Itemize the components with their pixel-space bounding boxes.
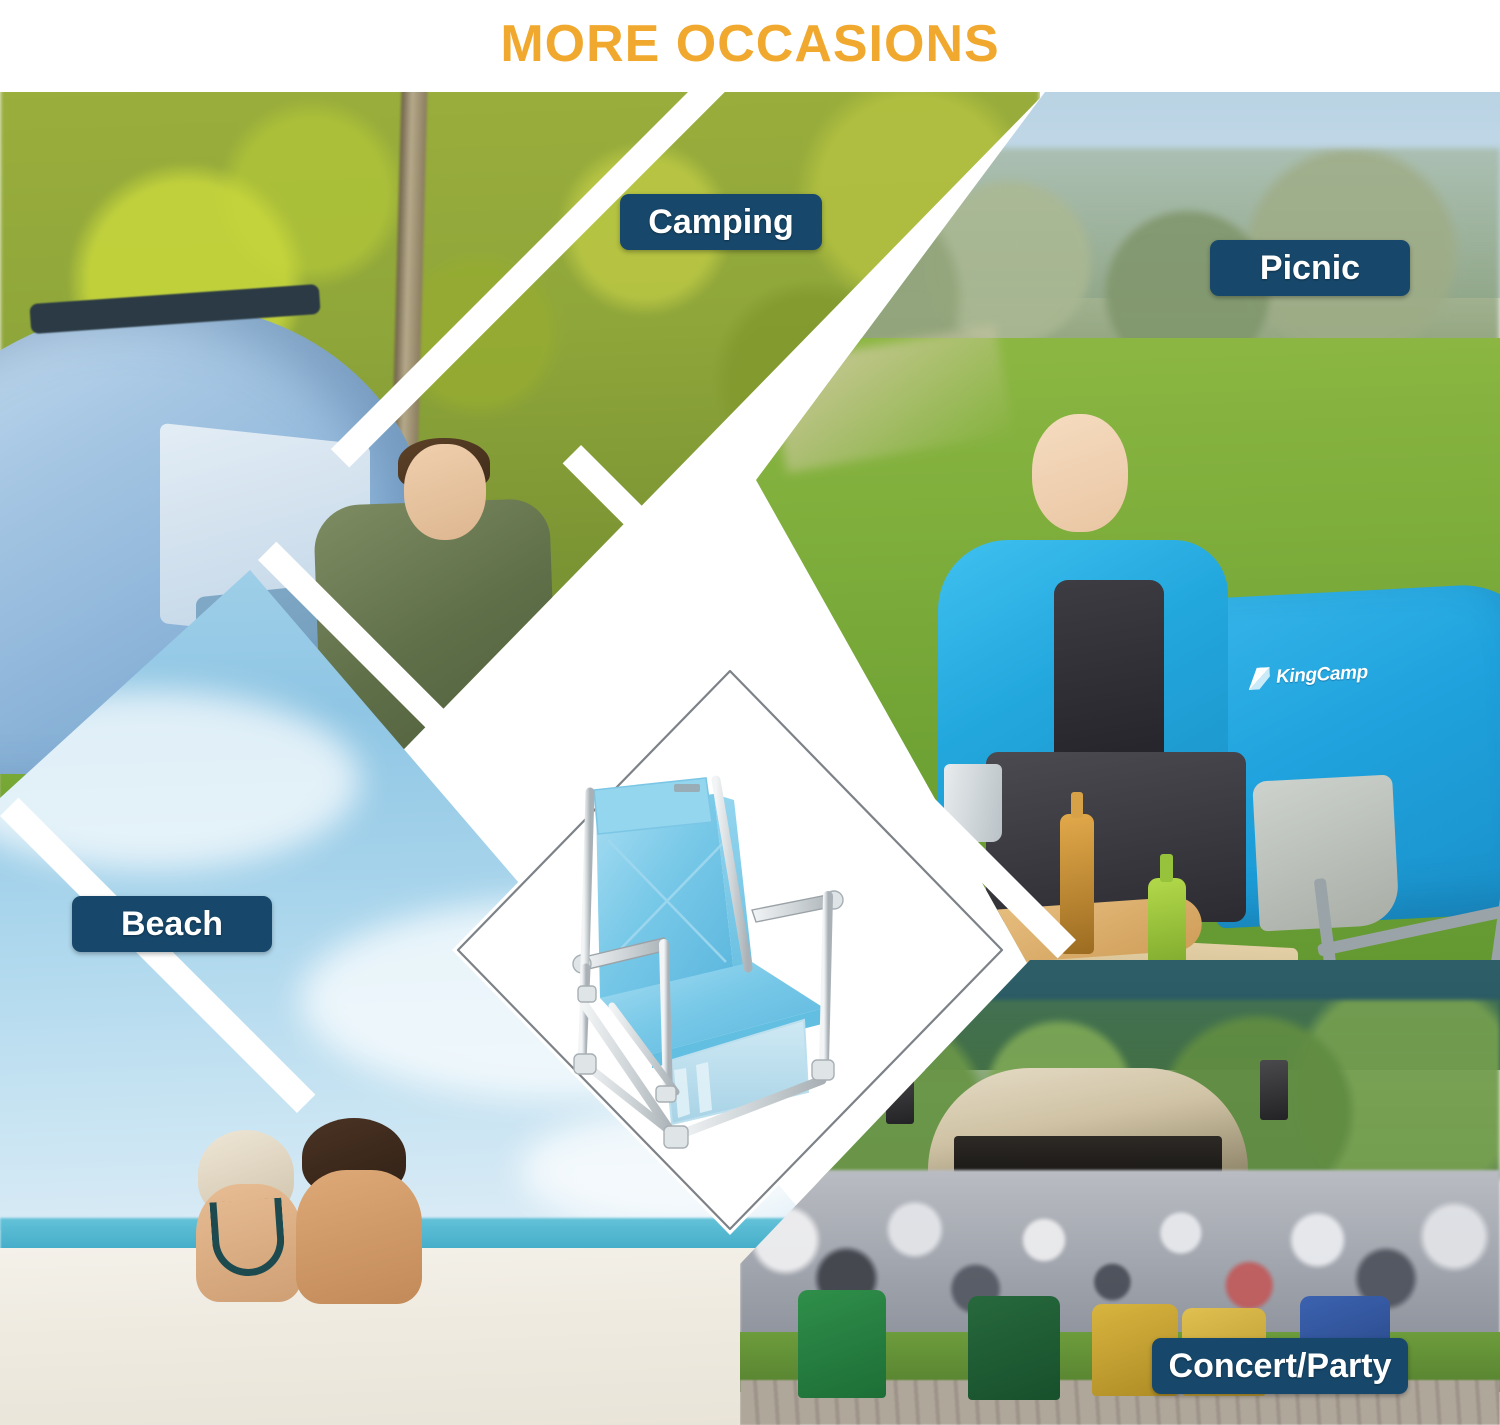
camper-man-head	[404, 444, 486, 540]
page-title-bar: MORE OCCASIONS	[0, 0, 1500, 88]
page-title: MORE OCCASIONS	[500, 14, 999, 74]
stage-backdrop	[954, 1136, 1222, 1174]
audience-chair-green	[968, 1296, 1060, 1400]
picnic-woman-shirt	[1054, 580, 1164, 770]
badge-concert[interactable]: Concert/Party	[1152, 1338, 1408, 1394]
picnic-woman-head	[1032, 414, 1128, 532]
beach-person-2-body	[296, 1170, 422, 1304]
badge-beach[interactable]: Beach	[72, 896, 272, 952]
kingcamp-logo-text: KingCamp	[1275, 662, 1368, 689]
stage-speaker-right	[1260, 1060, 1288, 1120]
occasions-collage: KingCamp	[0, 0, 1500, 1425]
kingcamp-logo-icon	[1248, 667, 1271, 690]
product-folding-chair	[556, 762, 906, 1152]
badge-picnic[interactable]: Picnic	[1210, 240, 1410, 296]
top-white-band	[0, 76, 1500, 92]
badge-camping[interactable]: Camping	[620, 194, 822, 250]
audience-chair-green	[798, 1290, 886, 1398]
